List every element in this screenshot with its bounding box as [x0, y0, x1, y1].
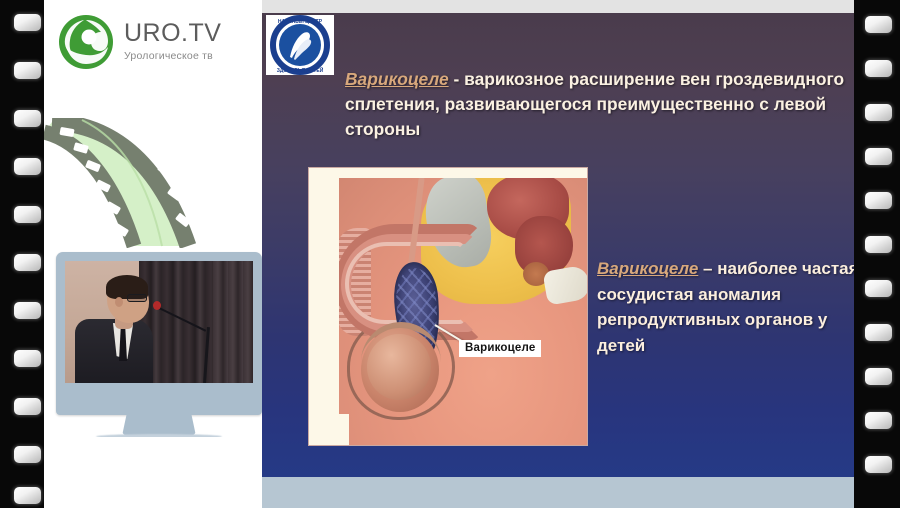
- green-film-reel-icon: [44, 118, 262, 248]
- right-text-keyword: Варикоцеле: [597, 259, 698, 278]
- svg-text:НАУЧНЫЙ ЦЕНТР: НАУЧНЫЙ ЦЕНТР: [278, 17, 323, 25]
- speaker-ear: [115, 297, 123, 307]
- sprocket-hole: [14, 254, 41, 271]
- brand-subtitle: Урологическое тв: [124, 50, 221, 62]
- sprocket-hole: [865, 412, 892, 429]
- brand-text-block: URO.TV Урологическое тв: [124, 18, 221, 62]
- sprocket-hole: [14, 110, 41, 127]
- sprocket-hole: [14, 302, 41, 319]
- sprocket-hole: [865, 192, 892, 209]
- sprocket-hole: [14, 62, 41, 79]
- panel-white-gap: [88, 437, 262, 453]
- anatomy-illustration: Варикоцеле: [308, 167, 588, 446]
- sprocket-hole: [865, 104, 892, 121]
- sprocket-hole: [14, 350, 41, 367]
- sprocket-hole: [865, 148, 892, 165]
- slide-title-keyword: Варикоцеле: [345, 69, 449, 89]
- sprocket-hole: [14, 14, 41, 31]
- anatomy-margin-top: [309, 168, 588, 178]
- sprocket-hole: [865, 16, 892, 33]
- anatomy-margin-left: [309, 168, 339, 446]
- sprocket-hole: [865, 456, 892, 473]
- video-curtain-fold: [213, 261, 253, 383]
- sprocket-hole: [865, 324, 892, 341]
- monitor-stand: [122, 415, 196, 436]
- sprocket-hole: [14, 446, 41, 463]
- slide-top-margin: [262, 0, 854, 13]
- brand-title: URO.TV: [124, 18, 221, 48]
- slide-title: Варикоцеле - варикозное расширение вен г…: [345, 67, 850, 142]
- sprocket-hole: [865, 60, 892, 77]
- sprocket-hole: [865, 236, 892, 253]
- slide-title-separator: -: [449, 69, 464, 89]
- anatomy-callout-label: Варикоцеле: [459, 340, 541, 357]
- svg-text:ЗДОРОВЬЯ ДЕТЕЙ: ЗДОРОВЬЯ ДЕТЕЙ: [277, 66, 324, 74]
- slide-footer-strip: [262, 477, 854, 508]
- filmstrip-right-decoration: [854, 0, 900, 508]
- anatomy-testis: [367, 334, 431, 400]
- sprocket-hole: [14, 398, 41, 415]
- uro-leaf-logo-icon: [58, 14, 114, 70]
- filmstrip-left-decoration: [0, 0, 44, 508]
- speaker-video-screen[interactable]: [65, 261, 253, 383]
- sprocket-hole: [14, 158, 41, 175]
- sprocket-hole: [865, 280, 892, 297]
- sprocket-hole: [865, 368, 892, 385]
- presentation-slide[interactable]: НАУЧНЫЙ ЦЕНТР ЗДОРОВЬЯ ДЕТЕЙ Варикоцеле …: [262, 13, 854, 477]
- video-player-monitor[interactable]: [56, 252, 262, 444]
- slide-right-text: Варикоцеле – наиболее частая сосудистая …: [597, 256, 854, 358]
- sprocket-hole: [14, 206, 41, 223]
- right-text-separator: –: [698, 259, 717, 278]
- glasses-icon: [127, 294, 147, 302]
- screen: URO.TV Урологическое тв: [0, 0, 900, 508]
- anatomy-margin-bottom-left: [309, 414, 349, 446]
- brand-block[interactable]: URO.TV Урологическое тв: [58, 14, 258, 76]
- microphone-head-icon: [153, 301, 161, 310]
- nczd-logo-icon: НАУЧНЫЙ ЦЕНТР ЗДОРОВЬЯ ДЕТЕЙ: [266, 15, 334, 75]
- sprocket-hole: [14, 487, 41, 504]
- left-info-panel: URO.TV Урологическое тв: [44, 0, 262, 508]
